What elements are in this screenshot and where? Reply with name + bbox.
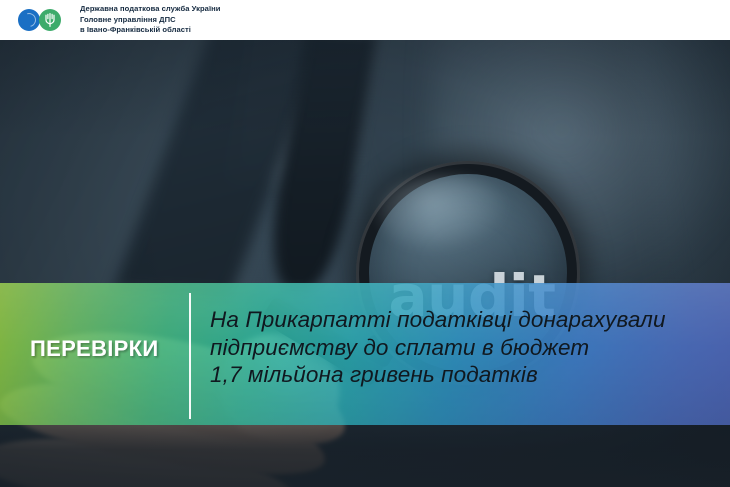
site-header: Державна податкова служба України Головн… — [0, 0, 730, 40]
logo-circle-blue — [18, 9, 40, 31]
news-banner-page: Державна податкова служба України Головн… — [0, 0, 730, 487]
organization-name: Державна податкова служба України Головн… — [80, 4, 221, 36]
org-line-2: Головне управління ДПС — [80, 15, 221, 26]
headline-line-2: підприємству до сплати в бюджет — [210, 334, 710, 362]
org-line-3: в Івано-Франківській області — [80, 25, 221, 36]
vertical-divider — [189, 293, 191, 419]
ukrainian-trident-icon — [45, 13, 55, 27]
headline: На Прикарпатті податківці донарахували п… — [210, 306, 710, 389]
category-badge: ПЕРЕВІРКИ — [30, 336, 180, 362]
tax-service-logo — [18, 9, 64, 31]
logo-swirl-icon — [19, 10, 38, 29]
headline-line-1: На Прикарпатті податківці донарахували — [210, 306, 710, 334]
headline-line-3: 1,7 мільйона гривень податків — [210, 361, 710, 389]
org-line-1: Державна податкова служба України — [80, 4, 221, 15]
